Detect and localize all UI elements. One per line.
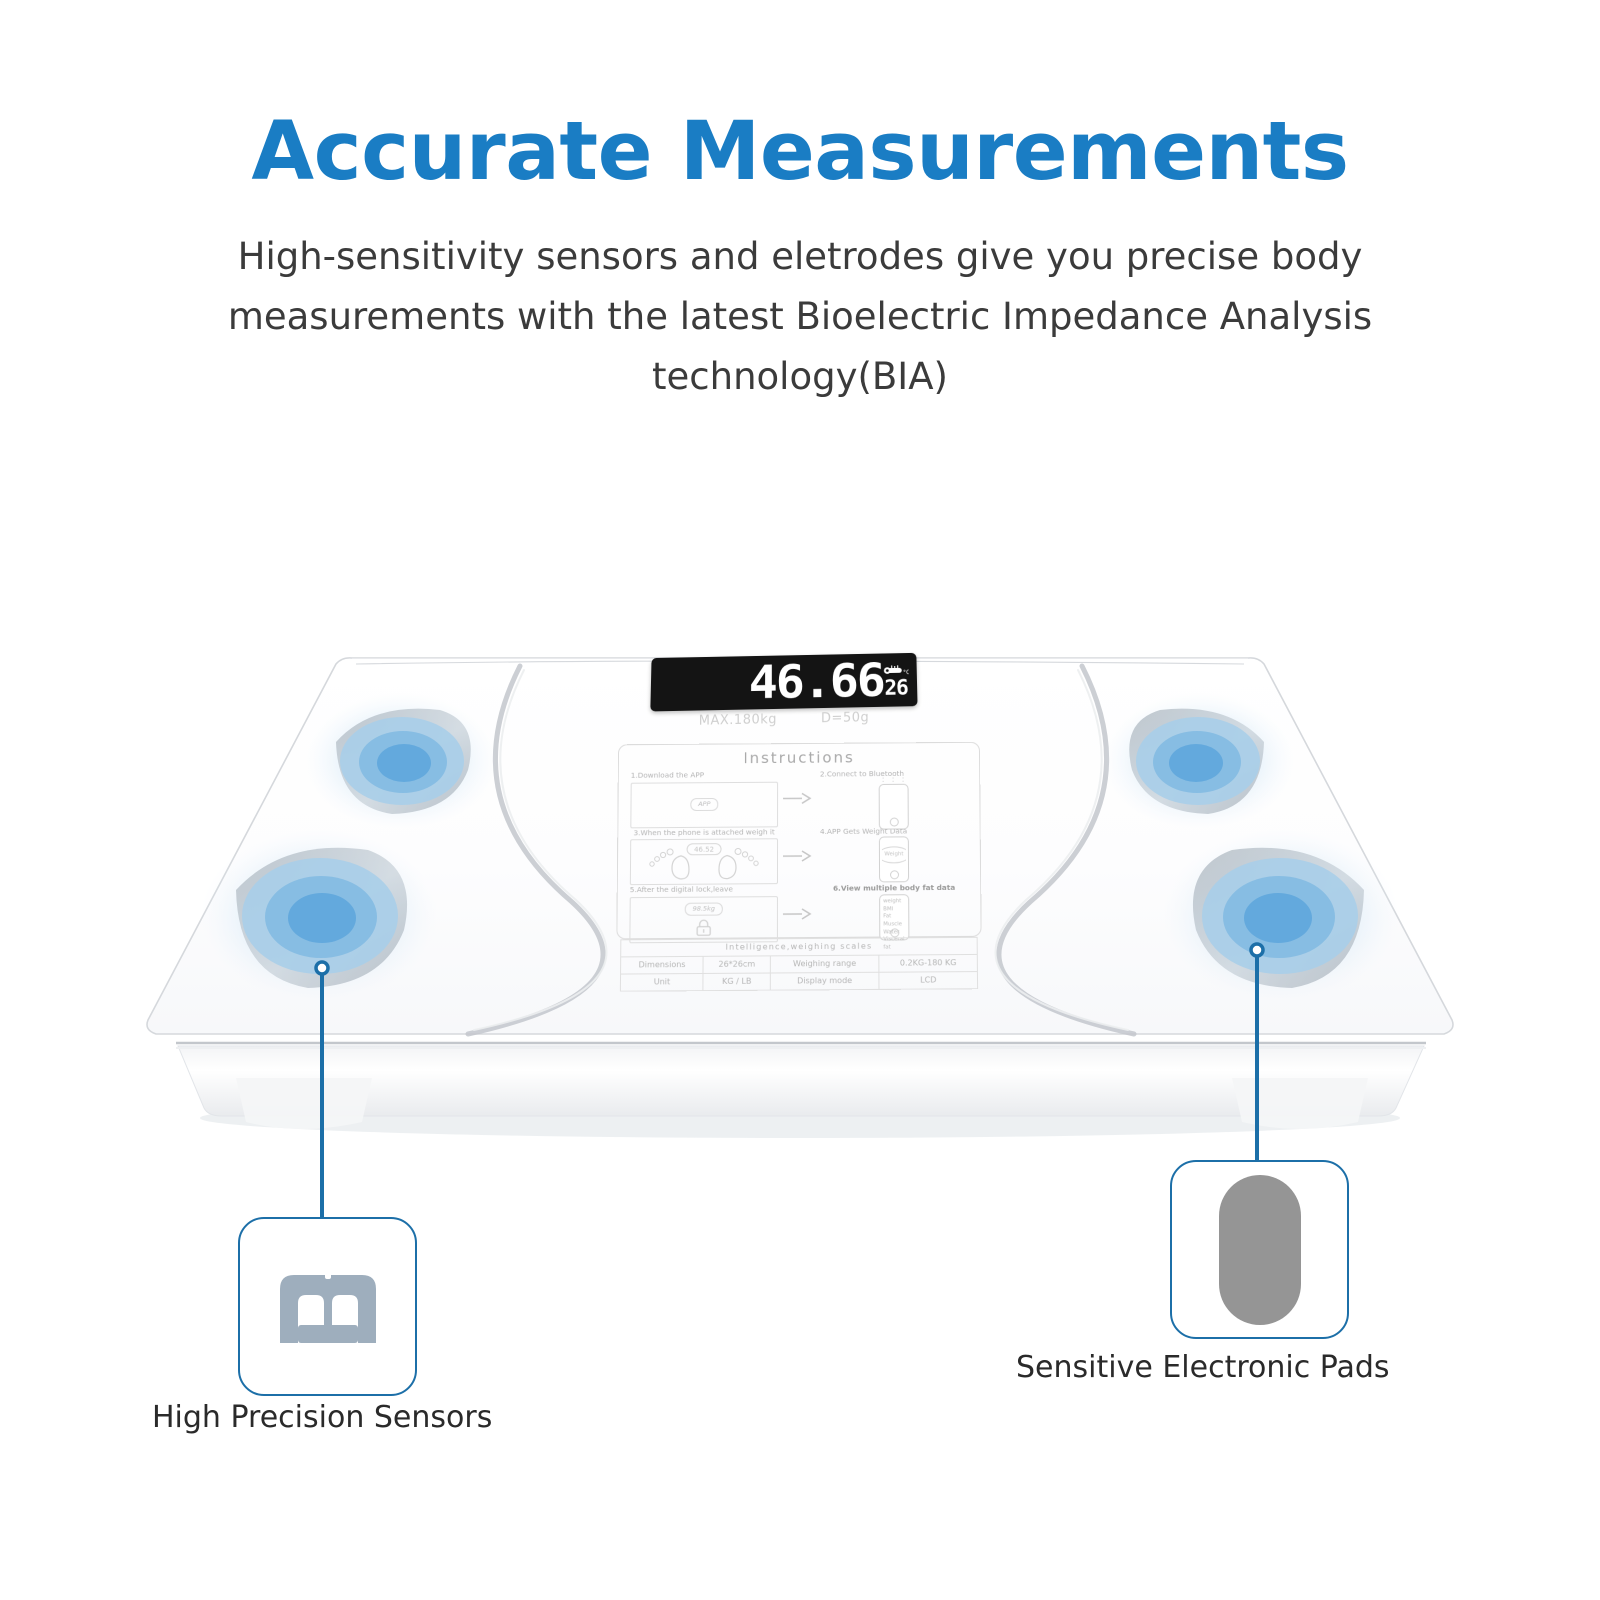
spec-cell: Unit <box>620 973 703 991</box>
max-capacity-text: MAX.180kg <box>699 712 777 729</box>
phone-icon <box>879 784 909 830</box>
metric-item: Fat <box>883 914 906 922</box>
footprints-icon: 46.52 <box>639 842 769 883</box>
step-4-figure: Weight <box>820 837 968 882</box>
instruction-step-2: 2.Connect to Bluetooth ⋮⋮⋮ <box>820 769 968 826</box>
callout-high-precision-sensors <box>238 1217 417 1396</box>
spec-cell: 26*26cm <box>703 956 770 974</box>
step-3-figure: 46.52 <box>630 839 778 886</box>
lock-icon <box>693 918 715 936</box>
instruction-step-4: 4.APP Gets Weight Data Weight <box>820 826 968 884</box>
weight-oval-label: Weight <box>882 847 906 864</box>
step-2-figure: ⋮⋮⋮ <box>820 780 968 825</box>
app-tag: APP <box>690 798 718 810</box>
instructions-label: Instructions 1.Download the APP APP <box>616 742 982 992</box>
instruction-step-3: 3.When the phone is attached weigh it <box>630 828 778 886</box>
weight-readout: 46.66 <box>748 657 883 705</box>
load-cell-strain-gauge-icon <box>272 1263 384 1351</box>
electrode-pad-top-right <box>1103 692 1295 828</box>
product-illustration: 46.66 °C 26 MAX.180kg D=50g <box>0 0 1600 1600</box>
temperature-value: 26 <box>884 678 908 699</box>
electrode-pad-bottom-left <box>201 829 437 1001</box>
spec-cell: Weighing range <box>770 955 879 973</box>
step-1-figure: APP <box>630 781 778 828</box>
division-text: D=50g <box>821 710 869 726</box>
led-display-panel: 46.66 °C 26 <box>650 653 917 712</box>
instruction-step-5: 5.After the digital lock,leave 98.5kg <box>629 885 778 943</box>
table-row: Unit KG / LB Display mode LCD <box>620 972 977 992</box>
electrode-pad-icon <box>1219 1175 1301 1325</box>
step-5-figure: 98.5kg <box>629 896 778 943</box>
instruction-step-1: 1.Download the APP APP <box>630 771 778 828</box>
metric-item: weight <box>883 898 906 906</box>
metrics-list: weight BMI Fat Muscle Water Visceral fat <box>883 898 906 928</box>
arrow-icon-2 <box>782 828 816 885</box>
locked-weight-tag: 98.5kg <box>685 903 724 915</box>
callout-left-label: High Precision Sensors <box>152 1400 492 1435</box>
temperature-readout-group: °C 26 <box>883 663 910 699</box>
spec-cell: KG / LB <box>703 973 770 991</box>
electrode-pad-top-left <box>305 692 497 828</box>
metric-item: Muscle <box>883 921 906 929</box>
electrode-pad-bottom-right <box>1163 829 1399 1001</box>
step-1-label: 1.Download the APP <box>631 771 778 781</box>
callout-sensitive-electronic-pads <box>1170 1160 1349 1339</box>
spec-table: Intelligence,weighing scales Dimensions … <box>620 937 978 992</box>
instructions-title: Instructions <box>631 748 967 769</box>
spec-cell: 0.2KG-180 KG <box>879 954 977 972</box>
spec-cell: LCD <box>879 972 978 990</box>
metric-item: Water <box>883 929 906 937</box>
arrow-icon-3 <box>782 885 816 942</box>
instruction-step-6: 6.View multiple body fat data weight BMI… <box>820 884 969 942</box>
arrow-icon-1 <box>782 770 816 826</box>
spec-cell: Display mode <box>770 972 879 990</box>
bluetooth-waves-icon: ⋮⋮⋮ <box>879 775 909 784</box>
step-6-label: 6.View multiple body fat data <box>820 884 968 894</box>
spec-cell: Dimensions <box>621 956 704 974</box>
metric-item: BMI <box>883 906 906 914</box>
step-6-figure: weight BMI Fat Muscle Water Visceral fat <box>820 895 969 940</box>
step-5-label: 5.After the digital lock,leave <box>630 885 778 895</box>
callout-right-label: Sensitive Electronic Pads <box>1016 1350 1390 1385</box>
phone-weight-icon: Weight <box>879 837 909 883</box>
step-3-label: 3.When the phone is attached weigh it <box>630 828 778 838</box>
phone-metrics-icon: weight BMI Fat Muscle Water Visceral fat <box>879 894 909 940</box>
step-3-value: 46.52 <box>694 846 714 854</box>
